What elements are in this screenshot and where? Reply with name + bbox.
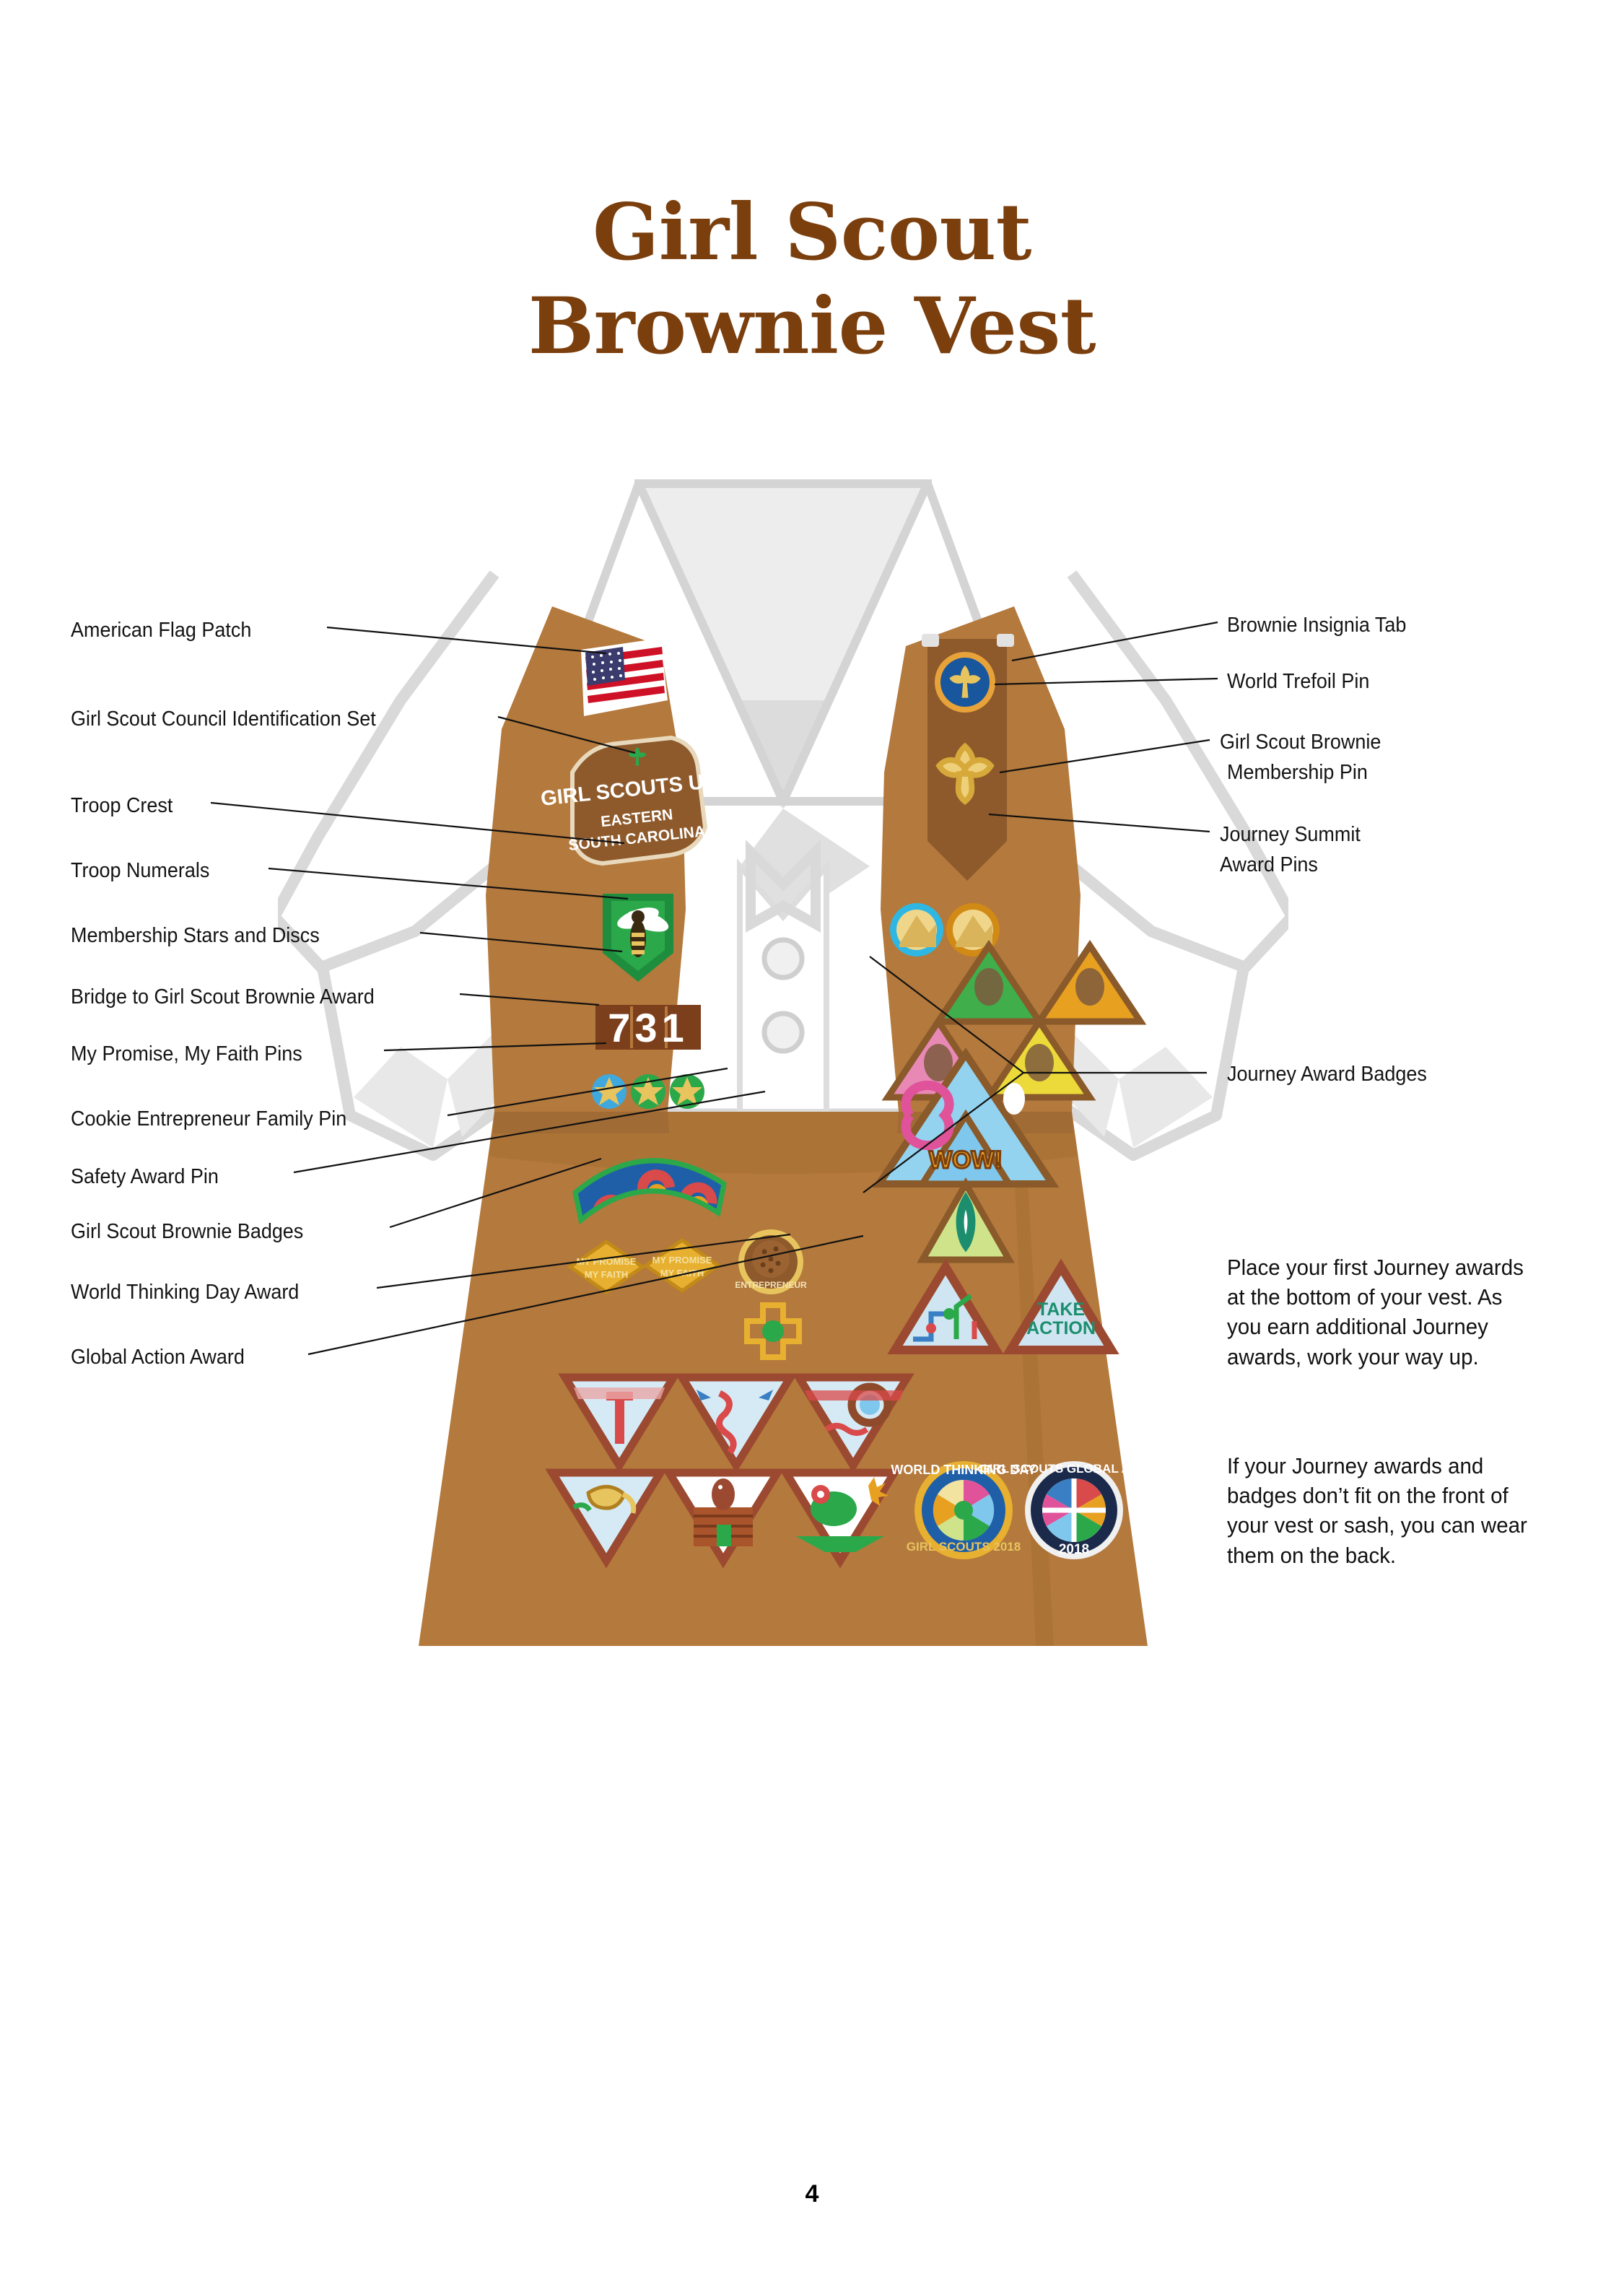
label-journey-summit-award-pins-line1: Journey Summit — [1220, 822, 1361, 849]
membership-stars-and-discs — [592, 1074, 704, 1109]
label-council-identification-set: Girl Scout Council Identification Set — [71, 706, 376, 733]
label-american-flag-patch: American Flag Patch — [71, 617, 251, 645]
girl-scout-brownie-badges — [552, 1377, 907, 1561]
label-bridge-to-brownie-award: Bridge to Girl Scout Brownie Award — [71, 984, 375, 1011]
shirt-button — [764, 940, 802, 977]
shirt-button — [764, 1014, 802, 1051]
label-my-promise-my-faith-pins: My Promise, My Faith Pins — [71, 1041, 302, 1068]
body-paragraph-2: If your Journey awards and badges don’t … — [1227, 1451, 1537, 1570]
journey-summit-pin — [890, 903, 943, 957]
ga-year-text: 2018 — [1059, 1542, 1089, 1557]
label-brownie-insignia-tab: Brownie Insignia Tab — [1227, 612, 1406, 640]
label-troop-numerals: Troop Numerals — [71, 858, 209, 885]
journey-wow-text: WOW! — [929, 1146, 1003, 1174]
vest-illustration: WOW! TAKE ACTION — [278, 462, 1288, 1689]
troop-numerals-value: 731 — [608, 1005, 688, 1050]
svg-text:MY PROMISE: MY PROMISE — [652, 1255, 712, 1265]
page-root: Girl Scout Brownie Vest — [0, 0, 1624, 2274]
body-paragraph-1: Place your first Journey awards at the b… — [1227, 1253, 1537, 1372]
label-journey-summit-award-pins-line2: Award Pins — [1220, 852, 1318, 879]
take-action-line-2: ACTION — [1026, 1318, 1096, 1338]
label-safety-award-pin: Safety Award Pin — [71, 1164, 219, 1191]
label-world-thinking-day-award: World Thinking Day Award — [71, 1279, 299, 1307]
take-action-line-1: TAKE — [1037, 1299, 1085, 1320]
label-girl-scout-brownie-badges: Girl Scout Brownie Badges — [71, 1219, 303, 1246]
label-journey-award-badges: Journey Award Badges — [1227, 1061, 1427, 1089]
svg-text:ENTREPRENEUR: ENTREPRENEUR — [735, 1280, 807, 1290]
label-global-action-award: Global Action Award — [71, 1344, 245, 1372]
svg-text:MY PROMISE: MY PROMISE — [577, 1256, 637, 1267]
svg-text:MY FAITH: MY FAITH — [585, 1269, 628, 1280]
troop-numerals: 731 — [595, 1005, 701, 1050]
membership-disc — [670, 1074, 704, 1109]
label-brownie-membership-pin-line2: Membership Pin — [1227, 759, 1368, 787]
membership-disc — [631, 1074, 665, 1109]
label-world-trefoil-pin: World Trefoil Pin — [1227, 668, 1369, 696]
world-trefoil-pin — [935, 652, 995, 713]
vest-left-edge-shadow — [493, 1112, 669, 1133]
wtd-bottom-text: GIRL SCOUTS 2018 — [907, 1540, 1021, 1554]
label-troop-crest: Troop Crest — [71, 793, 173, 820]
page-number: 4 — [0, 2180, 1624, 2208]
label-cookie-entrepreneur-family-pin: Cookie Entrepreneur Family Pin — [71, 1106, 346, 1133]
ga-top-text: GIRL SCOUTS GLOBAL ACTION — [979, 1462, 1168, 1476]
label-brownie-membership-pin-line1: Girl Scout Brownie — [1220, 729, 1381, 757]
label-membership-stars-and-discs: Membership Stars and Discs — [71, 923, 320, 950]
membership-disc — [592, 1074, 627, 1109]
vest-diagram: WOW! TAKE ACTION — [0, 0, 1624, 1733]
svg-text:MY FAITH: MY FAITH — [660, 1268, 704, 1278]
